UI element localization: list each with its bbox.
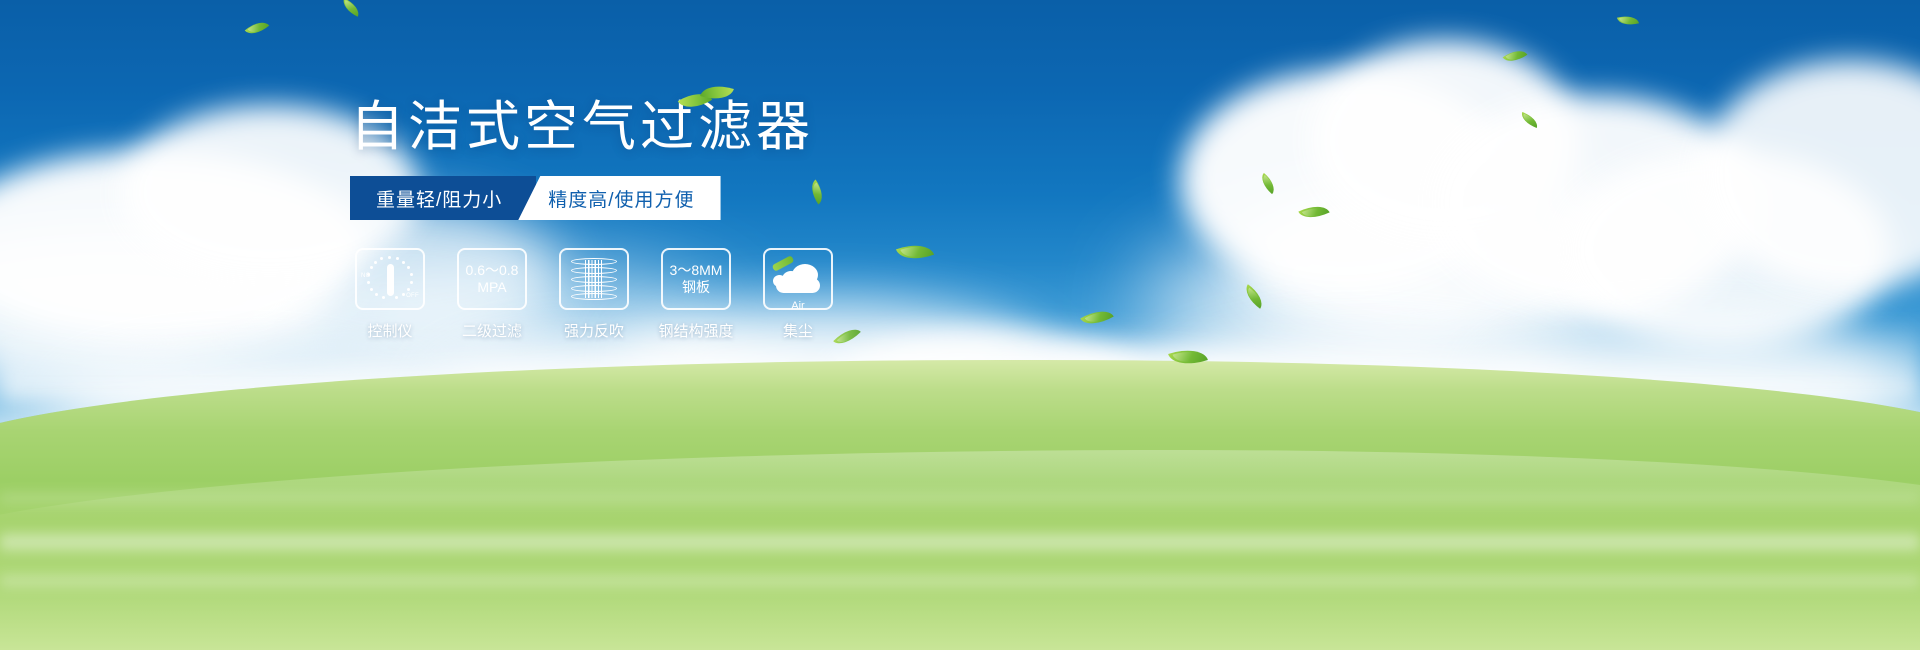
- feature-tabs: 重量轻/阻力小 精度高/使用方便: [350, 176, 721, 220]
- air-caption: Air: [770, 300, 826, 313]
- feature-icon-box: NO OFF: [355, 248, 425, 310]
- dial-pointer: [387, 264, 394, 296]
- cloud-base: [776, 278, 820, 293]
- feature-label: 强力反吹: [564, 320, 624, 341]
- feature-badge-row: NO OFF: [350, 248, 1050, 341]
- feature-label: 集尘: [783, 320, 813, 341]
- steel-plate-text-icon: 3～8MM 钢板: [670, 262, 723, 296]
- air-cloud-icon: Air: [770, 258, 826, 300]
- feature-label: 控制仪: [367, 320, 412, 341]
- feature-label: 二级过滤: [462, 320, 522, 341]
- title-leaf-decoration: [680, 82, 740, 118]
- tab-lightweight-lowresistance[interactable]: 重量轻/阻力小: [350, 176, 536, 220]
- feature-label: 钢结构强度: [658, 320, 733, 341]
- tab-highprecision-easyuse[interactable]: 精度高/使用方便: [518, 176, 720, 220]
- feature-steel-strength[interactable]: 3～8MM 钢板 钢结构强度: [656, 248, 736, 341]
- grass-streak: [0, 529, 1920, 555]
- dial-off-label: OFF: [406, 293, 419, 300]
- pressure-text-icon: 0.6～0.8 MPA: [466, 262, 519, 296]
- grass-streak: [0, 491, 1920, 505]
- hero-banner: 自洁式空气过滤器 重量轻/阻力小 精度高/使用方便 NO OFF: [0, 0, 1920, 650]
- feature-dust-collection[interactable]: Air 集尘: [758, 248, 838, 341]
- feature-icon-box: 0.6～0.8 MPA: [457, 248, 527, 310]
- filter-cartridge-icon: [571, 256, 617, 302]
- feature-icon-box: 3～8MM 钢板: [661, 248, 731, 310]
- feature-icon-box: [559, 248, 629, 310]
- control-dial-icon: NO OFF: [363, 256, 417, 302]
- feature-controller[interactable]: NO OFF: [350, 248, 430, 341]
- feature-icon-box: Air: [763, 248, 833, 310]
- grass-streak: [0, 572, 1920, 590]
- feature-strong-backwash[interactable]: 强力反吹: [554, 248, 634, 341]
- feature-secondary-filtration[interactable]: 0.6～0.8 MPA 二级过滤: [452, 248, 532, 341]
- leaf-icon: [772, 255, 795, 272]
- banner-content: 自洁式空气过滤器 重量轻/阻力小 精度高/使用方便 NO OFF: [350, 100, 1050, 341]
